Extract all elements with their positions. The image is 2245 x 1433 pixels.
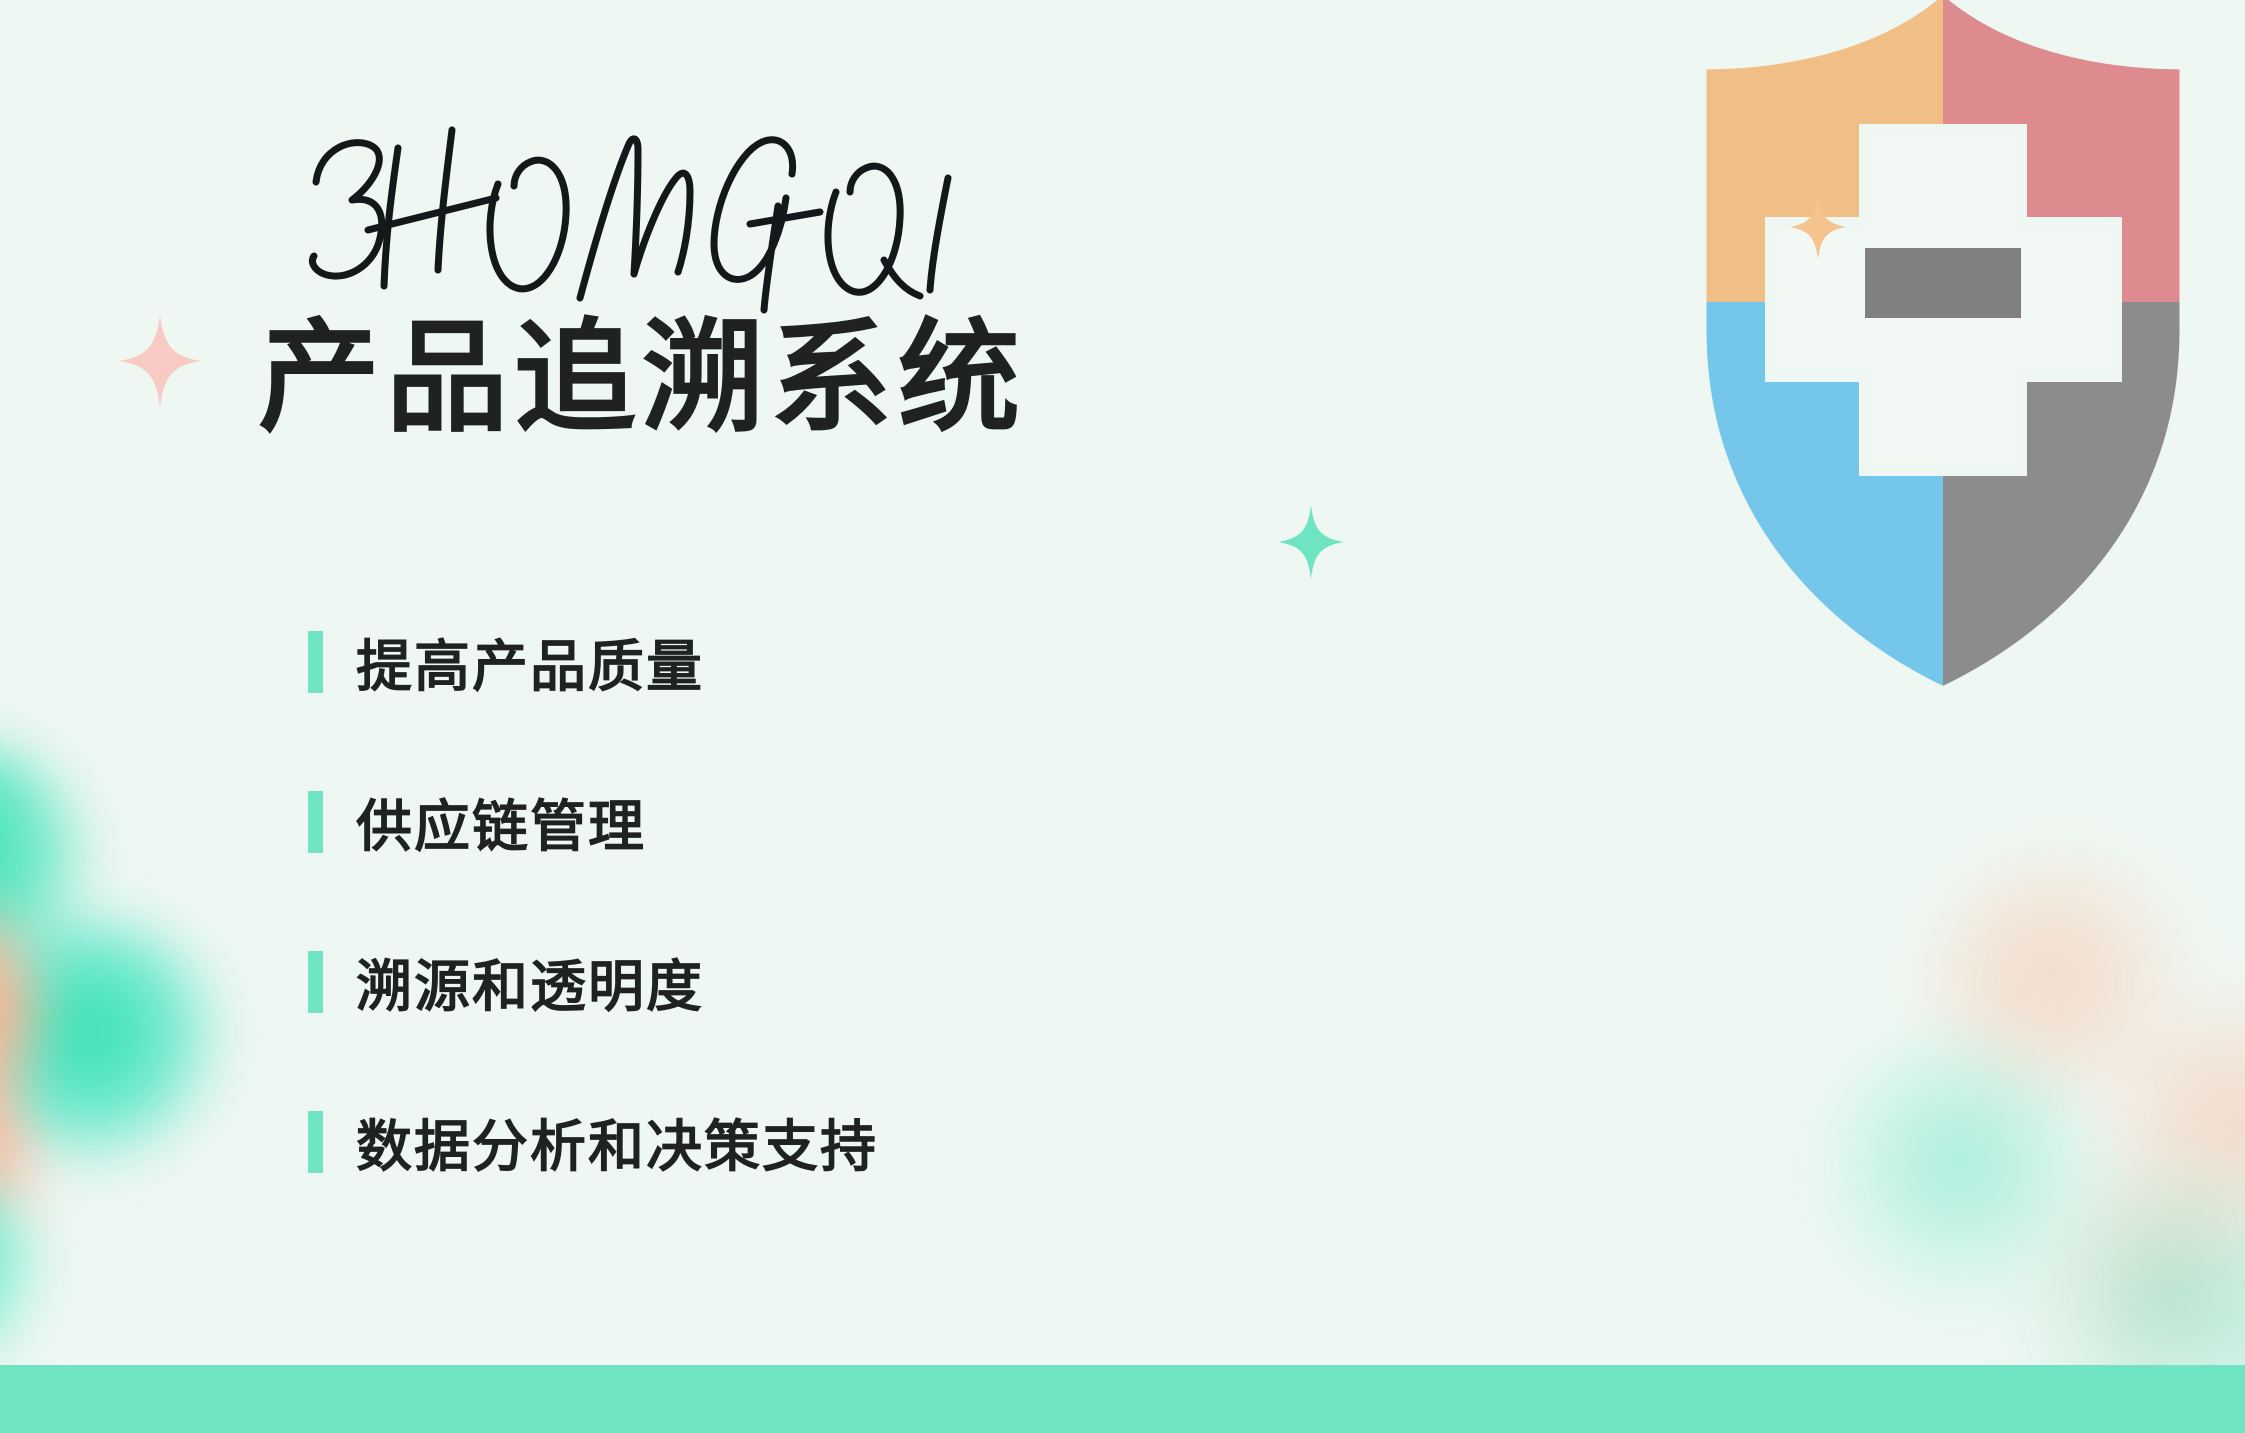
- flower-petal: [0, 1045, 35, 1295]
- list-item: 数据分析和决策支持: [308, 1100, 1308, 1184]
- sparkle-icon-mint: [1278, 505, 1344, 584]
- flower-petal: [2105, 993, 2245, 1293]
- bullet-marker: [308, 1111, 323, 1173]
- bottom-accent-band: [0, 1365, 2245, 1433]
- list-item: 溯源和透明度: [308, 940, 1308, 1024]
- flower-petal: [0, 1155, 40, 1385]
- flower-petal: [0, 920, 225, 1170]
- flower-petal: [1815, 1033, 2105, 1323]
- decorative-flower-right: [1775, 833, 2245, 1393]
- list-item-label: 提高产品质量: [356, 622, 704, 703]
- shield-center-bar: [1865, 248, 2021, 318]
- bullet-marker: [308, 951, 323, 1013]
- list-item-label: 数据分析和决策支持: [356, 1102, 878, 1183]
- list-item-label: 溯源和透明度: [356, 942, 704, 1023]
- list-item: 提高产品质量: [308, 620, 1308, 704]
- list-item: 供应链管理: [308, 780, 1308, 864]
- page-title: 产品追溯系统: [258, 310, 1026, 447]
- flower-petal: [1925, 853, 2205, 1133]
- flower-petal: [0, 880, 45, 1145]
- list-item-label: 供应链管理: [356, 782, 646, 863]
- shield-icon: [1653, 0, 2233, 720]
- sparkle-icon-pink: [118, 315, 202, 412]
- feature-bullet-list: 提高产品质量 供应链管理 溯源和透明度 数据分析和决策支持: [308, 620, 1308, 1260]
- slide-canvas: 产品追溯系统 提高产品质量 供应链管理 溯源和透明度 数据分析和决策支持: [0, 0, 2245, 1433]
- script-wordmark: [280, 120, 1080, 310]
- bullet-marker: [308, 791, 323, 853]
- bullet-marker: [308, 631, 323, 693]
- flower-petal: [0, 745, 95, 1010]
